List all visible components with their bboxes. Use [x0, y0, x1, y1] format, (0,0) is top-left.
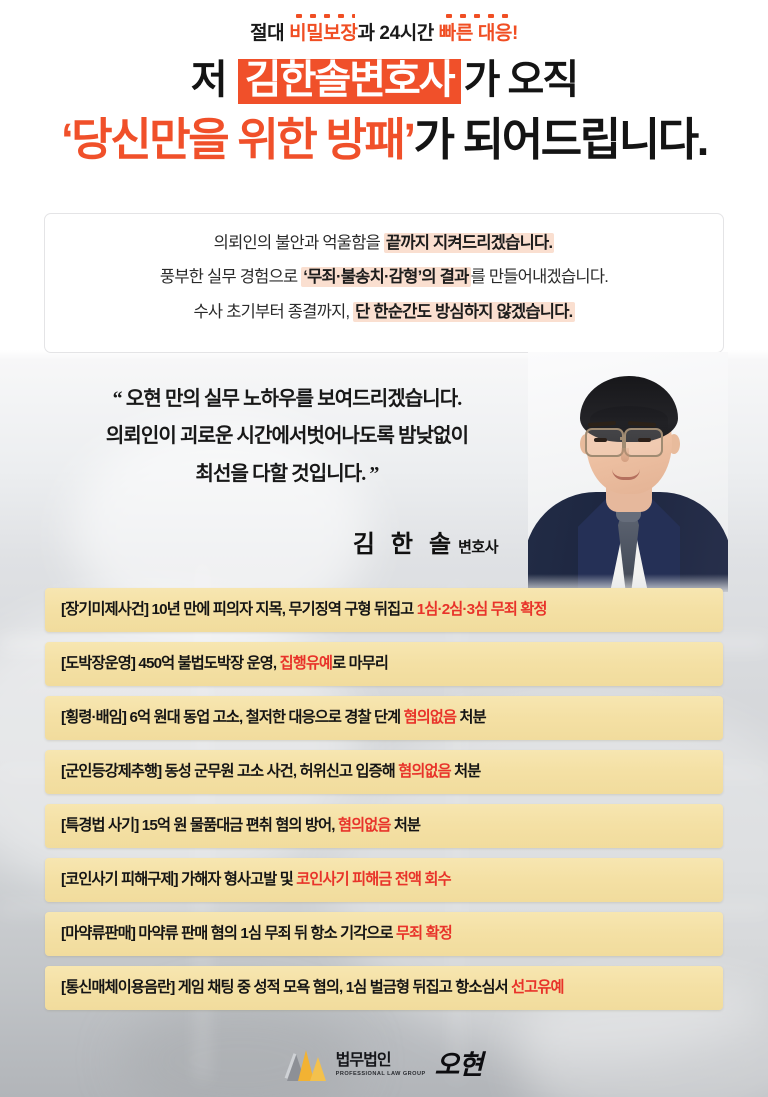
- signature-name: 김 한 솔: [353, 532, 456, 558]
- case-result-text: [마약류판매] 마약류 판매 혐의 1심 무죄 뒤 항소 기각으로 무죄 확정: [61, 926, 452, 941]
- case-result-row[interactable]: [횡령·배임] 6억 원대 동업 고소, 철저한 대응으로 경찰 단계 혐의없음…: [45, 696, 723, 740]
- case-result-pre: [통신매체이용음란] 게임 채팅 중 성적 모욕 혐의, 1심 벌금형 뒤집고 …: [61, 979, 511, 996]
- tagline-part-4-emphasis: 빠른 대응!: [439, 23, 518, 44]
- case-result-text: [도박장운영] 450억 불법도박장 운영, 집행유예로 마무리: [61, 656, 388, 671]
- case-result-row[interactable]: [군인등강제추행] 동성 군무원 고소 사건, 허위신고 입증해 혐의없음 처분: [45, 750, 723, 794]
- tagline-part-2-emphasis: 비밀보장: [289, 23, 357, 44]
- case-result-row[interactable]: [코인사기 피해구제] 가해자 형사고발 및 코인사기 피해금 전액 회수: [45, 858, 723, 902]
- logo-en-text: PROFESSIONAL LAW GROUP: [336, 1072, 426, 1078]
- lawyer-name-highlight: 김한솔변호사: [238, 59, 461, 104]
- case-result-outcome: 혐의없음: [398, 763, 451, 780]
- case-result-post: 처분: [391, 817, 421, 834]
- promise-line-tail: 를 만들어내겠습니다.: [471, 268, 609, 286]
- logo-ko-block: 법무법인 PROFESSIONAL LAW GROUP: [336, 1053, 426, 1078]
- case-result-outcome: 무죄 확정: [396, 925, 452, 942]
- promise-line: 수사 초기부터 종결까지, 단 한순간도 방심하지 않겠습니다.: [45, 298, 723, 326]
- case-result-pre: [마약류판매] 마약류 판매 혐의 1심 무죄 뒤 항소 기각으로: [61, 925, 396, 942]
- case-result-pre: [군인등강제추행] 동성 군무원 고소 사건, 허위신고 입증해: [61, 763, 398, 780]
- logo-triangle-gold-short: [310, 1057, 326, 1081]
- case-result-row[interactable]: [마약류판매] 마약류 판매 혐의 1심 무죄 뒤 항소 기각으로 무죄 확정: [45, 912, 723, 956]
- quote-signature: 김 한 솔변호사: [52, 524, 498, 559]
- case-results-list: [장기미제사건] 10년 만에 피의자 지목, 무기징역 구형 뒤집고 1심·2…: [45, 588, 723, 1020]
- case-result-pre: [코인사기 피해구제] 가해자 형사고발 및: [61, 871, 296, 888]
- promise-line-highlight: 단 한순간도 방심하지 않겠습니다.: [353, 302, 574, 322]
- logo-wordmark: 법무법인 PROFESSIONAL LAW GROUP 오현: [336, 1052, 483, 1079]
- portrait-glasses-left-lens: [585, 428, 624, 457]
- case-result-outcome: 혐의없음: [404, 709, 457, 726]
- case-result-row[interactable]: [장기미제사건] 10년 만에 피의자 지목, 무기징역 구형 뒤집고 1심·2…: [45, 588, 723, 632]
- portrait-glasses-bridge: [620, 437, 626, 440]
- logo-brand-name: 오현: [435, 1052, 483, 1079]
- headline-line-3-accent: ‘당신만을 위한 방패’: [61, 114, 413, 165]
- case-result-outcome: 1심·2심·3심 무죄 확정: [417, 601, 547, 618]
- promise-line-highlight: 끝까지 지켜드리겠습니다.: [384, 233, 554, 253]
- case-result-post: 처분: [456, 709, 486, 726]
- case-result-text: [통신매체이용음란] 게임 채팅 중 성적 모욕 혐의, 1심 벌금형 뒤집고 …: [61, 980, 564, 995]
- footer-logo: 법무법인 PROFESSIONAL LAW GROUP 오현: [0, 1040, 768, 1090]
- tagline-part-3: 과 24시간: [357, 23, 438, 44]
- promise-line-highlight: ‘무죄·불송치·감형’의 결과: [301, 267, 470, 287]
- case-result-pre: [도박장운영] 450억 불법도박장 운영,: [61, 655, 280, 672]
- case-result-row[interactable]: [도박장운영] 450억 불법도박장 운영, 집행유예로 마무리: [45, 642, 723, 686]
- case-result-pre: [횡령·배임] 6억 원대 동업 고소, 철저한 대응으로 경찰 단계: [61, 709, 404, 726]
- promise-line: 의뢰인의 불안과 억울함을 끝까지 지켜드리겠습니다.: [45, 229, 723, 257]
- case-result-text: [횡령·배임] 6억 원대 동업 고소, 철저한 대응으로 경찰 단계 혐의없음…: [61, 710, 486, 725]
- portrait-glasses-right-lens: [624, 428, 663, 457]
- quote-line-3: 최선을 다할 것입니다. ”: [52, 460, 522, 488]
- case-result-text: [장기미제사건] 10년 만에 피의자 지목, 무기징역 구형 뒤집고 1심·2…: [61, 602, 547, 617]
- case-result-outcome: 코인사기 피해금 전액 회수: [296, 871, 450, 888]
- case-result-pre: [특경법 사기] 15억 원 물품대금 편취 혐의 방어,: [61, 817, 338, 834]
- lawyer-quote: “ 오현 만의 실무 노하우를 보여드리겠습니다. 의뢰인이 괴로운 시간에서벗…: [52, 385, 522, 497]
- poster-canvas: 절대 비밀보장과 24시간 빠른 대응! 저 김한솔변호사가 오직 ‘당신만을 …: [0, 0, 768, 1097]
- logo-ko-text: 법무법인: [336, 1053, 426, 1069]
- case-result-outcome: 혐의없음: [338, 817, 391, 834]
- portrait-eye-right: [638, 438, 651, 442]
- promise-line-plain: 의뢰인의 불안과 억울함을: [214, 234, 384, 252]
- headline-line-3-plain: 가 되어드립니다.: [414, 114, 707, 165]
- tagline-part-1: 절대: [250, 23, 289, 44]
- headline-line-3: ‘당신만을 위한 방패’가 되어드립니다.: [0, 116, 768, 163]
- quote-line-1: “ 오현 만의 실무 노하우를 보여드리겠습니다.: [52, 385, 522, 413]
- case-result-text: [특경법 사기] 15억 원 물품대금 편취 혐의 방어, 혐의없음 처분: [61, 818, 420, 833]
- promise-line-plain: 수사 초기부터 종결까지,: [194, 303, 354, 321]
- headline-line-2-suffix: 가 오직: [464, 58, 578, 102]
- case-result-post: 로 마무리: [332, 655, 388, 672]
- lawyer-portrait-photo: [528, 352, 728, 592]
- case-result-row[interactable]: [특경법 사기] 15억 원 물품대금 편취 혐의 방어, 혐의없음 처분: [45, 804, 723, 848]
- law-firm-mountain-icon: [286, 1049, 326, 1081]
- portrait-eye-left: [594, 438, 607, 442]
- headline-line-2: 저 김한솔변호사가 오직: [0, 59, 768, 104]
- case-result-post: 처분: [451, 763, 481, 780]
- portrait-nose: [621, 448, 629, 462]
- case-result-row[interactable]: [통신매체이용음란] 게임 채팅 중 성적 모욕 혐의, 1심 벌금형 뒤집고 …: [45, 966, 723, 1010]
- tagline: 절대 비밀보장과 24시간 빠른 대응!: [0, 24, 768, 43]
- signature-title: 변호사: [458, 540, 498, 556]
- promise-box: 의뢰인의 불안과 억울함을 끝까지 지켜드리겠습니다. 풍부한 실무 경험으로 …: [44, 213, 724, 353]
- case-result-text: [코인사기 피해구제] 가해자 형사고발 및 코인사기 피해금 전액 회수: [61, 872, 451, 887]
- headline-line-2-prefix: 저: [191, 58, 235, 102]
- promise-line-plain: 풍부한 실무 경험으로: [160, 268, 301, 286]
- case-result-pre: [장기미제사건] 10년 만에 피의자 지목, 무기징역 구형 뒤집고: [61, 601, 417, 618]
- case-result-outcome: 집행유예: [280, 655, 333, 672]
- promise-line: 풍부한 실무 경험으로 ‘무죄·불송치·감형’의 결과를 만들어내겠습니다.: [45, 263, 723, 291]
- quote-line-2: 의뢰인이 괴로운 시간에서벗어나도록 밤낮없이: [52, 422, 522, 450]
- case-result-text: [군인등강제추행] 동성 군무원 고소 사건, 허위신고 입증해 혐의없음 처분: [61, 764, 480, 779]
- case-result-outcome: 선고유예: [511, 979, 564, 996]
- headline-block: 절대 비밀보장과 24시간 빠른 대응! 저 김한솔변호사가 오직 ‘당신만을 …: [0, 24, 768, 163]
